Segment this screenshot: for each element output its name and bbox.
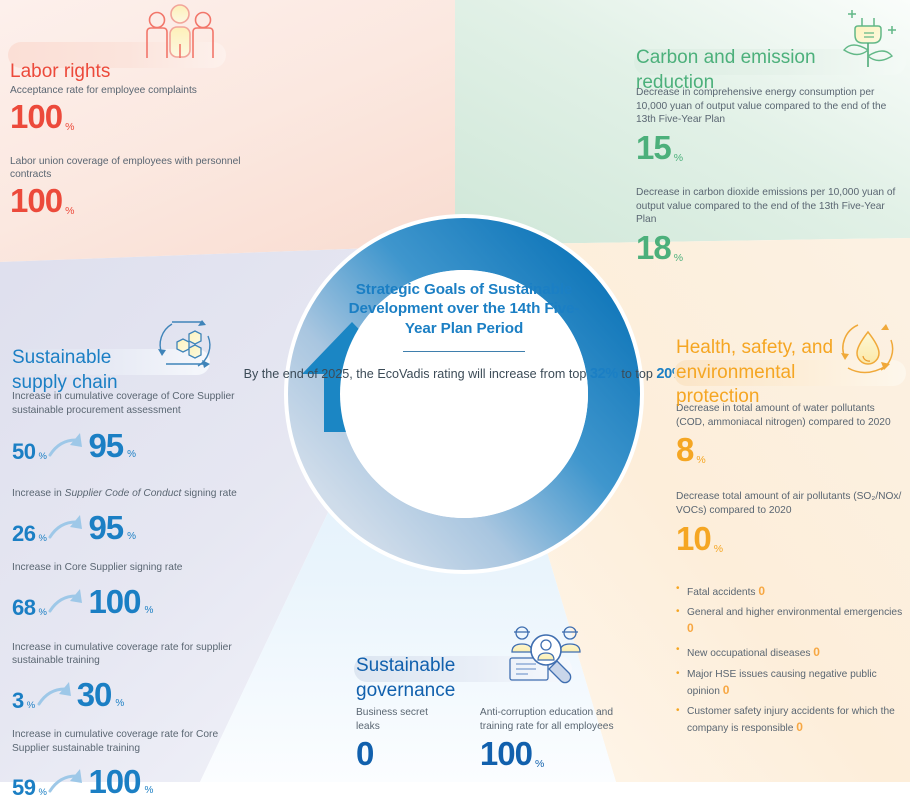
labor-kpi-1-unit: % xyxy=(65,205,74,217)
supply-kpi-3-from: 3% xyxy=(12,688,35,714)
supply-kpi-4: Increase in cumulative coverage rate for… xyxy=(12,728,238,801)
supply-kpi-3-to: 30% xyxy=(77,676,124,714)
hexagon-cycle-icon xyxy=(152,312,218,378)
supply-kpi-1-label-pre: Increase in xyxy=(12,488,65,499)
people-group-icon xyxy=(140,2,220,68)
center-divider xyxy=(403,351,525,352)
carbon-kpi-1-label: Decrease in carbon dioxide emissions per… xyxy=(636,186,904,227)
hse-bullet-3-text: Major HSE issues causing negative public… xyxy=(687,669,877,697)
carbon-kpi-1-value: 18 xyxy=(636,231,671,264)
hse-bullet-0-text: Fatal accidents xyxy=(687,587,758,598)
center-ring: Strategic Goals of Sustainable Developme… xyxy=(288,218,640,570)
center-title: Strategic Goals of Sustainable Developme… xyxy=(344,280,584,338)
plant-plug-icon xyxy=(826,2,904,68)
hse-bullet-1-text: General and higher environmental emergen… xyxy=(687,607,902,618)
hse-bullet-2-value: 0 xyxy=(813,645,819,659)
supply-kpi-1-to: 95% xyxy=(88,509,135,547)
supply-kpi-1-label-em: Supplier Code of Conduct xyxy=(65,488,182,499)
carbon-kpi-1-unit: % xyxy=(674,252,683,264)
supply-kpi-4-to: 100% xyxy=(88,763,152,801)
supply-kpi-0: Increase in cumulative coverage of Core … xyxy=(12,390,238,465)
supply-kpi-1-from: 26% xyxy=(12,521,46,547)
hse-kpi-1-value: 10 xyxy=(676,522,711,555)
trend-up-arrow-icon xyxy=(46,431,88,465)
hse-bullet-0-value: 0 xyxy=(758,584,764,598)
center-subtitle: By the end of 2025, the EcoVadis rating … xyxy=(244,364,685,384)
labor-kpi-1-label: Labor union coverage of employees with p… xyxy=(10,155,260,182)
list-item: Major HSE issues causing negative public… xyxy=(676,668,904,699)
people-magnifier-icon xyxy=(502,624,588,688)
hse-bullet-2-text: New occupational diseases xyxy=(687,648,813,659)
carbon-kpi-0-value: 15 xyxy=(636,131,671,164)
hse-kpi-0-unit: % xyxy=(696,454,705,466)
supply-kpi-1-label: Increase in Supplier Code of Conduct sig… xyxy=(12,487,238,501)
governance-heading: Sustainable governance xyxy=(356,655,455,700)
governance-kpi-0-label: Business secret leaks xyxy=(356,706,452,733)
labor-kpi-0-value: 100 xyxy=(10,100,62,133)
list-item: General and higher environmental emergen… xyxy=(676,606,904,637)
supply-kpi-2-from: 68% xyxy=(12,595,46,621)
hse-bullet-4-text: Customer safety injury accidents for whi… xyxy=(687,706,895,734)
supply-kpi-2-label-pre: Increase in Core Supplier signing rate xyxy=(12,562,182,573)
hse-heading: Health, safety, and environmental protec… xyxy=(676,337,833,407)
governance-kpi-1-value: 100 xyxy=(480,737,532,770)
hse-kpi-1-label: Decrease total amount of air pollutants … xyxy=(676,490,904,517)
governance-kpi-0-value: 0 xyxy=(356,737,373,770)
center-sub-mid: to top xyxy=(618,367,657,381)
supply-kpi-2: Increase in Core Supplier signing rate 6… xyxy=(12,561,238,621)
water-drop-cycle-icon xyxy=(834,314,902,382)
supply-heading: Sustainable supply chain xyxy=(12,347,118,392)
labor-kpi-1-value: 100 xyxy=(10,184,62,217)
hse-kpi-1-unit: % xyxy=(714,543,723,555)
hse-kpi-0-value: 8 xyxy=(676,433,693,466)
infographic-canvas: Strategic Goals of Sustainable Developme… xyxy=(0,0,910,782)
supply-kpi-0-from: 50% xyxy=(12,439,46,465)
section-supply-chain: Sustainable supply chain Increase in cum… xyxy=(12,322,238,801)
center-text-block: Strategic Goals of Sustainable Developme… xyxy=(344,280,584,510)
labor-kpi-0-unit: % xyxy=(65,121,74,133)
supply-kpi-0-to: 95% xyxy=(88,427,135,465)
section-governance: Sustainable governance Business secret l… xyxy=(356,630,636,770)
supply-kpi-4-from: 59% xyxy=(12,775,46,801)
labor-kpi-0-label: Acceptance rate for employee complaints xyxy=(10,84,260,98)
supply-kpi-4-label: Increase in cumulative coverage rate for… xyxy=(12,728,238,755)
center-sub-value-from: 32% xyxy=(590,366,618,382)
supply-kpi-1: Increase in Supplier Code of Conduct sig… xyxy=(12,487,238,547)
governance-kpi-1-unit: % xyxy=(535,758,544,770)
supply-kpi-3-label: Increase in cumulative coverage rate for… xyxy=(12,641,238,668)
governance-kpi-1: Anti-corruption education and training r… xyxy=(480,706,636,770)
hse-zero-target-list: Fatal accidents 0 General and higher env… xyxy=(676,583,904,736)
supply-kpi-1-label-post: signing rate xyxy=(181,488,237,499)
carbon-heading: Carbon and emission reduction xyxy=(636,47,816,92)
trend-up-arrow-icon xyxy=(46,587,88,621)
supply-kpi-4-label-pre: Increase in cumulative coverage rate for… xyxy=(12,729,218,754)
labor-heading: Labor rights xyxy=(10,61,110,82)
list-item: Customer safety injury accidents for whi… xyxy=(676,705,904,736)
supply-kpi-2-to: 100% xyxy=(88,583,152,621)
list-item: New occupational diseases 0 xyxy=(676,644,904,661)
section-labor-rights: Labor rights Acceptance rate for employe… xyxy=(10,36,260,217)
governance-kpi-1-label: Anti-corruption education and training r… xyxy=(480,706,636,733)
list-item: Fatal accidents 0 xyxy=(676,583,904,600)
hse-bullet-3-value: 0 xyxy=(723,683,729,697)
trend-up-arrow-icon xyxy=(46,767,88,801)
trend-up-arrow-icon xyxy=(46,513,88,547)
center-sub-pre: By the end of 2025, the EcoVadis rating … xyxy=(244,367,590,381)
trend-up-arrow-icon xyxy=(35,680,77,714)
governance-kpi-0: Business secret leaks 0 xyxy=(356,706,452,770)
supply-kpi-3: Increase in cumulative coverage rate for… xyxy=(12,641,238,714)
carbon-kpi-0-unit: % xyxy=(674,152,683,164)
hse-bullet-4-value: 0 xyxy=(796,720,802,734)
hse-bullet-1-value: 0 xyxy=(687,621,693,635)
supply-kpi-3-label-pre: Increase in cumulative coverage rate for… xyxy=(12,642,232,667)
supply-kpi-2-label: Increase in Core Supplier signing rate xyxy=(12,561,238,575)
